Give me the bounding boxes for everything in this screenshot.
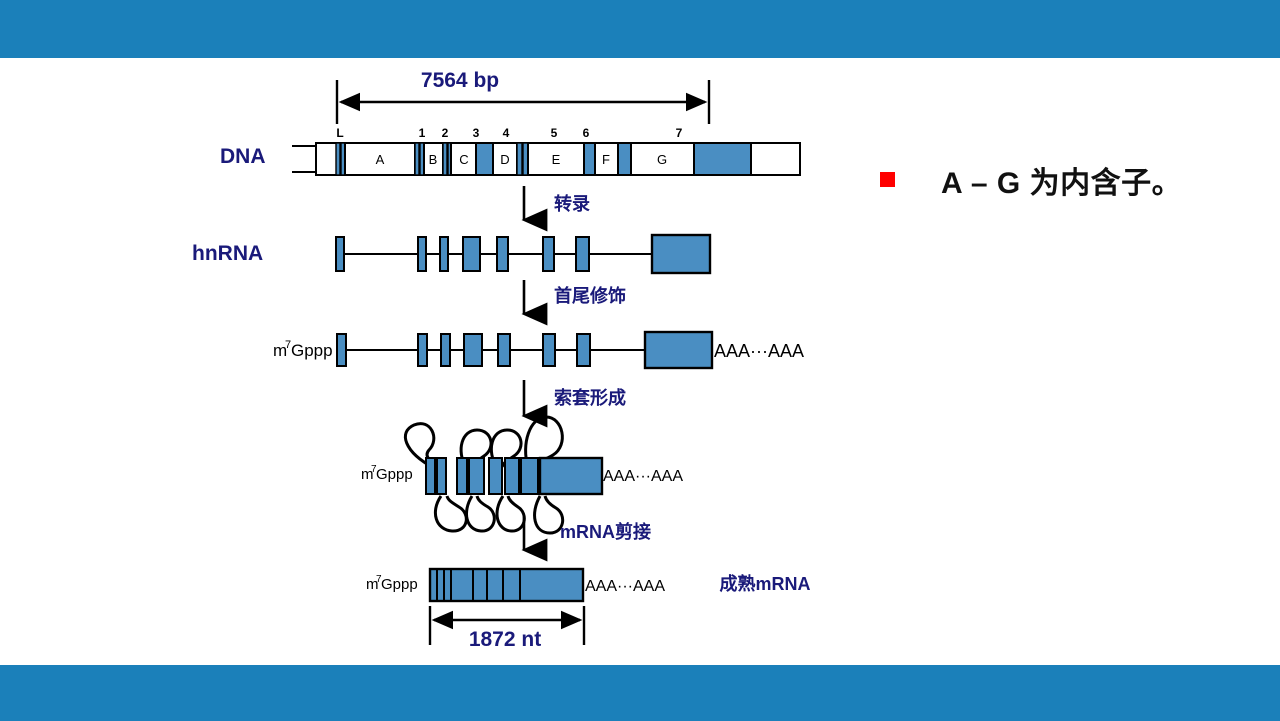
exon-number-1: 1 <box>419 126 426 140</box>
capped-exon-7 <box>645 332 712 368</box>
step-arrow-transcription: 转录 <box>524 186 590 220</box>
exon-number-3: 3 <box>473 126 480 140</box>
dna-exon-L <box>336 143 340 175</box>
dna-exon-7 <box>694 143 751 175</box>
capped-exon-2 <box>441 334 450 366</box>
polya-tail-mature: AAA···AAA <box>585 578 665 595</box>
dna-intron-A-label: A <box>376 152 385 167</box>
measure-7564bp: 7564 bp <box>337 69 709 124</box>
exon-number-4: 4 <box>503 126 510 140</box>
lariat-exon-7 <box>540 458 602 494</box>
dna-intron-B-label: B <box>429 152 438 167</box>
step-label-splicing: mRNA剪接 <box>560 521 651 542</box>
dna-flank-right <box>751 143 800 175</box>
hnrna-exon-6 <box>576 237 589 271</box>
hnrna-exon-2 <box>440 237 448 271</box>
lariat-exon-4 <box>489 458 502 494</box>
capped-exon-6 <box>577 334 590 366</box>
capped-exon-4 <box>498 334 510 366</box>
dna-exon-1a <box>415 143 419 175</box>
measure-top-label: 7564 bp <box>421 69 499 92</box>
dna-intron-C-label: C <box>459 152 468 167</box>
bullet-annotation: A – G 为内含子。 <box>880 158 1270 202</box>
bullet-label: A – G 为内含子。 <box>941 158 1182 202</box>
dna-intron-G-label: G <box>657 152 667 167</box>
stage-label-hnrna: hnRNA <box>192 242 263 265</box>
hnrna-exon-7 <box>652 235 710 273</box>
capped-exon-5 <box>543 334 555 366</box>
capped-exon-L <box>337 334 346 366</box>
dna-exon-4a <box>517 143 522 175</box>
capped-exon-1 <box>418 334 427 366</box>
lariat-exon-L <box>426 458 435 494</box>
dna-intron-D-label: D <box>500 152 509 167</box>
polya-tail-lariat: AAA···AAA <box>603 468 683 485</box>
mature-mrna-body <box>430 569 583 601</box>
dna-intron-E-label: E <box>552 152 561 167</box>
hnrna-exon-5 <box>543 237 554 271</box>
dna-gene-bar: A B C D E <box>316 143 800 175</box>
step-label-capping: 首尾修饰 <box>554 285 626 306</box>
exon-number-5: 5 <box>551 126 558 140</box>
measure-bottom-label: 1872 nt <box>469 628 541 651</box>
mature-mrna: m 7 Gppp AAA···AAA <box>366 569 665 601</box>
exon-number-7: 7 <box>676 126 683 140</box>
dna-intron-F-label: F <box>602 152 610 167</box>
hnrna-exon-1 <box>418 237 426 271</box>
dna-exon-5 <box>584 143 595 175</box>
cap-label-suffix-mature: Gppp <box>381 576 418 593</box>
bullet-square-icon <box>880 172 895 187</box>
measure-1872nt: 1872 nt <box>430 606 584 651</box>
dna-exon-3 <box>476 143 493 175</box>
hnrna-exon-3 <box>463 237 480 271</box>
lariat-exon-3 <box>469 458 484 494</box>
stage-label-dna: DNA <box>220 145 266 168</box>
lariat-exon-5 <box>505 458 519 494</box>
mature-mrna-label: 成熟mRNA <box>719 573 810 594</box>
exon-number-row: L 1 2 3 4 5 6 7 <box>336 126 682 140</box>
step-label-lariat: 索套形成 <box>554 387 626 408</box>
step-arrow-lariat: 索套形成 <box>524 380 626 416</box>
polya-tail-capped: AAA···AAA <box>714 341 804 361</box>
dna-exon-6 <box>618 143 631 175</box>
capped-exon-3 <box>464 334 482 366</box>
bottom-banner <box>0 665 1280 721</box>
exon-number-6: 6 <box>583 126 590 140</box>
capped-transcript: m 7 Gppp AAA···AAA <box>273 332 804 368</box>
step-label-transcription: 转录 <box>554 193 590 214</box>
dna-exon-2a <box>443 143 447 175</box>
exon-number-L: L <box>336 126 343 140</box>
exon-number-2: 2 <box>442 126 449 140</box>
lariat-exon-2 <box>457 458 467 494</box>
hnrna-transcript <box>336 235 710 273</box>
cap-label-suffix-lariat: Gppp <box>376 466 413 483</box>
step-arrow-capping: 首尾修饰 <box>524 280 626 314</box>
hnrna-exon-4 <box>497 237 508 271</box>
mrna-processing-diagram: 7564 bp DNA L 1 2 3 4 5 6 7 <box>0 58 860 665</box>
lariat-exon-6 <box>521 458 538 494</box>
slide-content-area: 7564 bp DNA L 1 2 3 4 5 6 7 <box>0 58 1280 665</box>
lariat-exon-1 <box>437 458 446 494</box>
hnrna-exon-L <box>336 237 344 271</box>
top-banner <box>0 0 1280 58</box>
lariat-transcript: m 7 Gppp AAA···AAA <box>361 417 683 533</box>
cap-label-suffix: Gppp <box>291 341 333 360</box>
